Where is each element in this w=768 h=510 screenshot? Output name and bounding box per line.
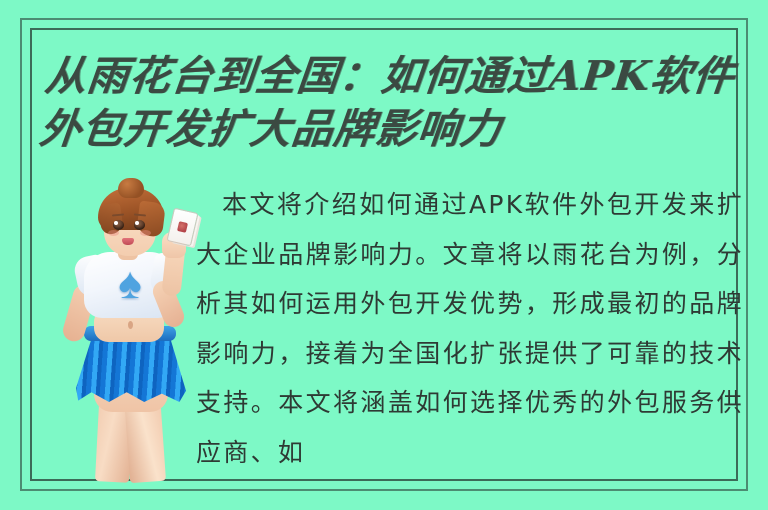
anime-girl-illustration: ♠ bbox=[46, 180, 214, 482]
blush-right bbox=[140, 230, 151, 236]
poster-canvas: 从雨花台到全国：如何通过APK软件外包开发扩大品牌影响力 本文将介绍如何通过AP… bbox=[0, 0, 768, 510]
pleated-skirt bbox=[76, 332, 186, 402]
hair-bun bbox=[118, 178, 144, 198]
navel bbox=[128, 321, 133, 329]
eye-highlight-left bbox=[114, 221, 118, 225]
eye-highlight-right bbox=[135, 221, 139, 225]
playing-cards-icon bbox=[166, 208, 198, 247]
poster-title: 从雨花台到全国：如何通过APK软件外包开发扩大品牌影响力 bbox=[37, 50, 764, 156]
spade-icon: ♠ bbox=[108, 264, 152, 304]
blush-left bbox=[108, 230, 119, 236]
poster-body-text: 本文将介绍如何通过APK软件外包开发来扩大企业品牌影响力。文章将以雨花台为例，分… bbox=[196, 180, 744, 477]
